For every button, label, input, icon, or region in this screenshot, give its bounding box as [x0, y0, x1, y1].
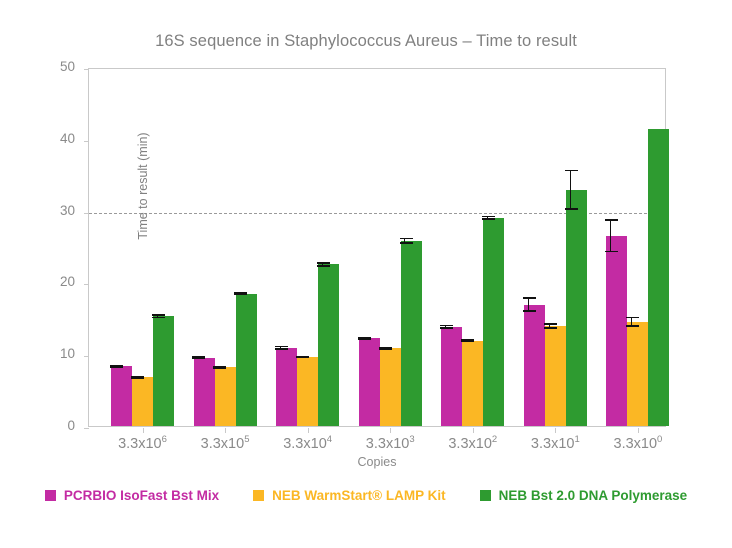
x-tick-mark: [390, 428, 391, 433]
x-tick-base: 3.3x10: [283, 436, 327, 452]
y-axis-tick: 40: [1, 141, 89, 142]
y-axis-tick: 30: [1, 213, 89, 214]
bar[interactable]: [194, 358, 215, 426]
bar[interactable]: [111, 366, 132, 426]
bar[interactable]: [545, 326, 566, 426]
error-bar: [549, 323, 563, 329]
x-tick-mark: [225, 428, 226, 433]
x-tick-exponent: 0: [657, 434, 662, 445]
x-tick-exponent: 5: [244, 434, 249, 445]
chart-title: 16S sequence in Staphylococcus Aureus – …: [0, 32, 732, 51]
bar[interactable]: [524, 305, 545, 426]
error-bar: [218, 366, 232, 369]
bar[interactable]: [648, 129, 669, 426]
y-tick-mark: [84, 356, 89, 357]
bar-group: [359, 67, 422, 426]
bar[interactable]: [297, 357, 318, 426]
error-bar: [157, 314, 171, 318]
legend-item[interactable]: NEB Bst 2.0 DNA Polymerase: [480, 488, 688, 503]
bar[interactable]: [483, 218, 504, 426]
y-axis-label: Time to result (min): [136, 86, 150, 286]
bar-group: [606, 67, 669, 426]
legend-label: NEB Bst 2.0 DNA Polymerase: [499, 488, 688, 503]
x-tick-exponent: 4: [327, 434, 332, 445]
y-tick-label: 20: [60, 274, 75, 289]
x-axis-label: Copies: [88, 455, 666, 469]
error-bar: [487, 216, 501, 220]
legend-label: PCRBIO IsoFast Bst Mix: [64, 488, 219, 503]
legend-color-swatch: [480, 490, 491, 501]
x-tick-mark: [308, 428, 309, 433]
bar[interactable]: [318, 264, 339, 426]
bar[interactable]: [462, 341, 483, 426]
error-bar: [239, 292, 253, 295]
y-tick-mark: [84, 141, 89, 142]
bar[interactable]: [627, 322, 648, 426]
error-bar: [362, 337, 376, 340]
plot-area: 01020304050 3.3x1063.3x1053.3x1043.3x103…: [88, 68, 666, 427]
legend-color-swatch: [45, 490, 56, 501]
bar-group: [276, 67, 339, 426]
y-tick-label: 40: [60, 131, 75, 146]
bar[interactable]: [441, 327, 462, 426]
error-bar: [466, 339, 480, 342]
x-tick-mark: [143, 428, 144, 433]
error-bar: [631, 317, 645, 327]
bar[interactable]: [215, 367, 236, 426]
error-bar: [404, 238, 418, 244]
bar[interactable]: [380, 348, 401, 426]
y-tick-label: 30: [60, 203, 75, 218]
legend-color-swatch: [253, 490, 264, 501]
bar[interactable]: [359, 338, 380, 426]
bar[interactable]: [153, 316, 174, 426]
error-bar: [115, 365, 129, 368]
y-tick-label: 50: [60, 59, 75, 74]
x-tick-mark: [555, 428, 556, 433]
x-tick-base: 3.3x10: [118, 436, 162, 452]
x-tick-exponent: 6: [162, 434, 167, 445]
error-bar: [383, 347, 397, 350]
y-axis-tick: 0: [1, 428, 89, 429]
bar[interactable]: [401, 241, 422, 426]
x-tick-base: 3.3x10: [366, 436, 410, 452]
error-bar: [445, 325, 459, 329]
y-tick-label: 10: [60, 346, 75, 361]
y-tick-mark: [84, 69, 89, 70]
x-tick-mark: [473, 428, 474, 433]
x-tick-exponent: 1: [574, 434, 579, 445]
bar[interactable]: [276, 348, 297, 426]
bar[interactable]: [566, 190, 587, 426]
legend-label: NEB WarmStart® LAMP Kit: [272, 488, 445, 503]
error-bar: [528, 297, 542, 311]
bar-group: [194, 67, 257, 426]
x-tick-base: 3.3x10: [531, 436, 575, 452]
x-tick-exponent: 2: [492, 434, 497, 445]
chart-legend: PCRBIO IsoFast Bst MixNEB WarmStart® LAM…: [0, 488, 732, 503]
x-tick-label: 3.3x100: [588, 436, 688, 452]
bar[interactable]: [236, 294, 257, 426]
y-tick-label: 0: [67, 418, 75, 433]
bar[interactable]: [132, 377, 153, 426]
x-tick-mark: [638, 428, 639, 433]
legend-item[interactable]: PCRBIO IsoFast Bst Mix: [45, 488, 219, 503]
chart-figure: 16S sequence in Staphylococcus Aureus – …: [0, 0, 732, 548]
error-bar: [610, 219, 624, 252]
x-tick-exponent: 3: [409, 434, 414, 445]
y-tick-mark: [84, 284, 89, 285]
bar-group: [524, 67, 587, 426]
y-tick-mark: [84, 428, 89, 429]
bar[interactable]: [606, 236, 627, 426]
legend-item[interactable]: NEB WarmStart® LAMP Kit: [253, 488, 445, 503]
x-tick-base: 3.3x10: [448, 436, 492, 452]
error-bar: [570, 170, 584, 210]
bar-group: [441, 67, 504, 426]
y-axis-tick: 10: [1, 356, 89, 357]
y-axis-tick: 20: [1, 284, 89, 285]
x-tick-base: 3.3x10: [614, 436, 658, 452]
y-axis-tick: 50: [1, 69, 89, 70]
error-bar: [280, 346, 294, 350]
x-tick-base: 3.3x10: [201, 436, 245, 452]
error-bar: [301, 356, 315, 359]
error-bar: [197, 356, 211, 359]
error-bar: [322, 262, 336, 266]
error-bar: [136, 376, 150, 379]
